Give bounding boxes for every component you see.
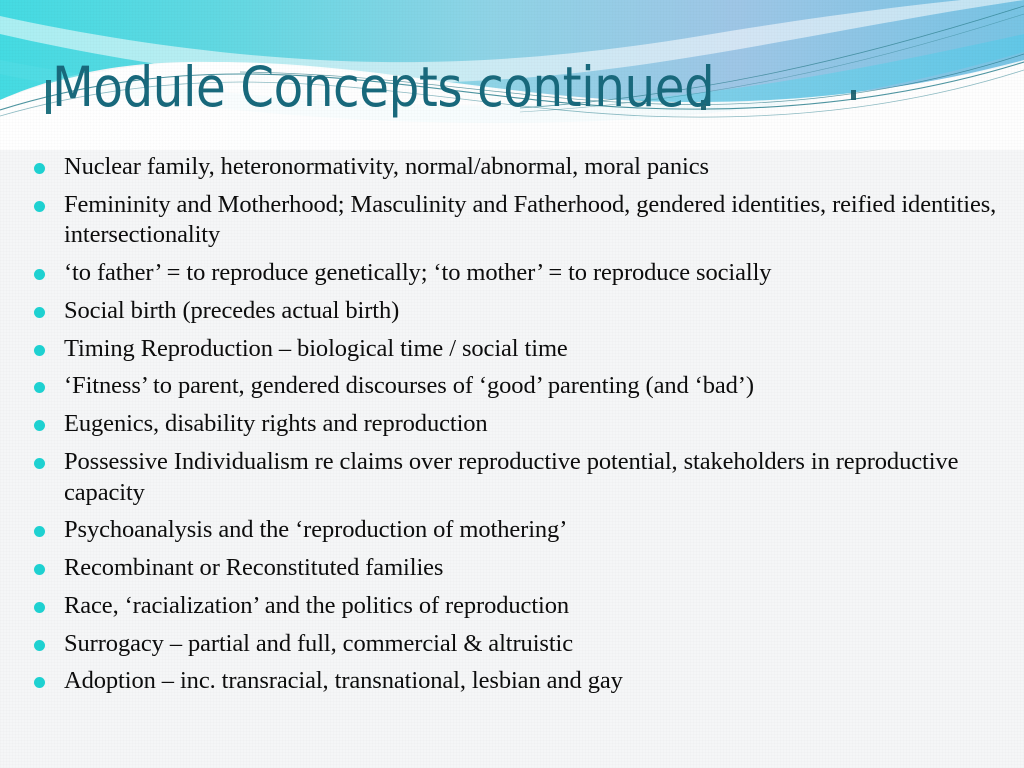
list-item-text: ‘Fitness’ to parent, gendered discourses… bbox=[64, 371, 1009, 402]
list-item-text: Race, ‘racialization’ and the politics o… bbox=[64, 591, 1009, 622]
bullet-list: Nuclear family, heteronormativity, norma… bbox=[24, 152, 1009, 704]
list-item: Eugenics, disability rights and reproduc… bbox=[24, 409, 1009, 440]
list-item: Race, ‘racialization’ and the politics o… bbox=[24, 591, 1009, 622]
bullet-dot-icon bbox=[34, 526, 45, 537]
list-item: Timing Reproduction – biological time / … bbox=[24, 334, 1009, 365]
list-item-text: Adoption – inc. transracial, transnation… bbox=[64, 666, 1009, 697]
presentation-slide: Module Concepts continued Nuclear family… bbox=[0, 0, 1024, 768]
list-item-text: Possessive Individualism re claims over … bbox=[64, 447, 1009, 508]
list-item: Nuclear family, heteronormativity, norma… bbox=[24, 152, 1009, 183]
list-item: Adoption – inc. transracial, transnation… bbox=[24, 666, 1009, 697]
list-item-text: Psychoanalysis and the ‘reproduction of … bbox=[64, 515, 1009, 546]
list-item-text: Recombinant or Reconstituted families bbox=[64, 553, 1009, 584]
bullet-dot-icon bbox=[34, 677, 45, 688]
bullet-dot-icon bbox=[34, 345, 45, 356]
list-item-text: Femininity and Motherhood; Masculinity a… bbox=[64, 190, 1009, 251]
list-item: Psychoanalysis and the ‘reproduction of … bbox=[24, 515, 1009, 546]
list-item: ‘to father’ = to reproduce genetically; … bbox=[24, 258, 1009, 289]
list-item: Surrogacy – partial and full, commercial… bbox=[24, 629, 1009, 660]
bullet-dot-icon bbox=[34, 564, 45, 575]
list-item: Femininity and Motherhood; Masculinity a… bbox=[24, 190, 1009, 251]
list-item-text: Social birth (precedes actual birth) bbox=[64, 296, 1009, 327]
list-item: Possessive Individualism re claims over … bbox=[24, 447, 1009, 508]
bullet-dot-icon bbox=[34, 420, 45, 431]
bullet-dot-icon bbox=[34, 382, 45, 393]
list-item-text: Surrogacy – partial and full, commercial… bbox=[64, 629, 1009, 660]
list-item-text: Nuclear family, heteronormativity, norma… bbox=[64, 152, 1009, 183]
bullet-dot-icon bbox=[34, 458, 45, 469]
list-item-text: Timing Reproduction – biological time / … bbox=[64, 334, 1009, 365]
bullet-dot-icon bbox=[34, 269, 45, 280]
list-item-text: ‘to father’ = to reproduce genetically; … bbox=[64, 258, 1009, 289]
list-item: ‘Fitness’ to parent, gendered discourses… bbox=[24, 371, 1009, 402]
list-item-text: Eugenics, disability rights and reproduc… bbox=[64, 409, 1009, 440]
bullet-dot-icon bbox=[34, 307, 45, 318]
bullet-dot-icon bbox=[34, 163, 45, 174]
list-item: Recombinant or Reconstituted families bbox=[24, 553, 1009, 584]
bullet-dot-icon bbox=[34, 602, 45, 613]
bullet-dot-icon bbox=[34, 201, 45, 212]
list-item: Social birth (precedes actual birth) bbox=[24, 296, 1009, 327]
bullet-dot-icon bbox=[34, 640, 45, 651]
slide-title: Module Concepts continued bbox=[52, 60, 714, 115]
